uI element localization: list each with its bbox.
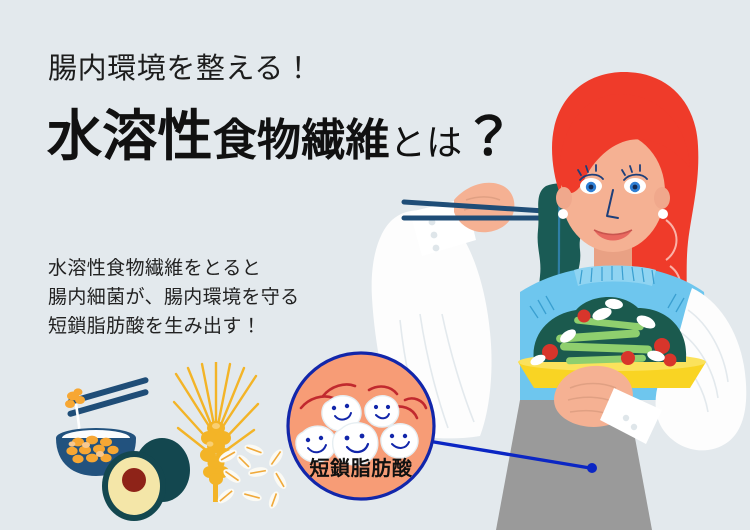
connector-line <box>422 440 590 468</box>
body-line-1: 水溶性食物繊維をとると <box>48 255 300 284</box>
title-part-1: 水溶性 <box>47 105 213 167</box>
callout-connector <box>420 420 620 490</box>
headline-subtitle: 腸内環境を整える！ <box>48 52 313 87</box>
title-question-mark: ？ <box>462 109 514 167</box>
oat-grains-illustration <box>214 440 292 510</box>
oat-grain-group <box>215 442 289 510</box>
avocado-pit <box>122 468 146 492</box>
ear-right <box>654 187 670 209</box>
page-title: 水溶性食物繊維とは？ <box>47 108 514 166</box>
earring-left <box>558 209 568 219</box>
earring-right <box>658 209 668 219</box>
title-part-3: とは <box>390 122 463 163</box>
body-copy: 水溶性食物繊維をとると 腸内細菌が、腸内環境を守る 短鎖脂肪酸を生み出す！ <box>48 255 300 342</box>
scfa-blob-2 <box>365 396 399 427</box>
scfa-label: 短鎖脂肪酸 <box>285 452 437 481</box>
body-line-3: 短鎖脂肪酸を生み出す！ <box>48 313 300 342</box>
ear-left <box>556 187 572 209</box>
body-line-2: 腸内細菌が、腸内環境を守る <box>48 284 300 313</box>
connector-endpoint <box>587 463 597 473</box>
infographic-poster: 腸内環境を整える！ 水溶性食物繊維とは？ 水溶性食物繊維をとると 腸内細菌が、腸… <box>0 0 750 530</box>
title-part-2: 食物繊維 <box>213 116 390 165</box>
